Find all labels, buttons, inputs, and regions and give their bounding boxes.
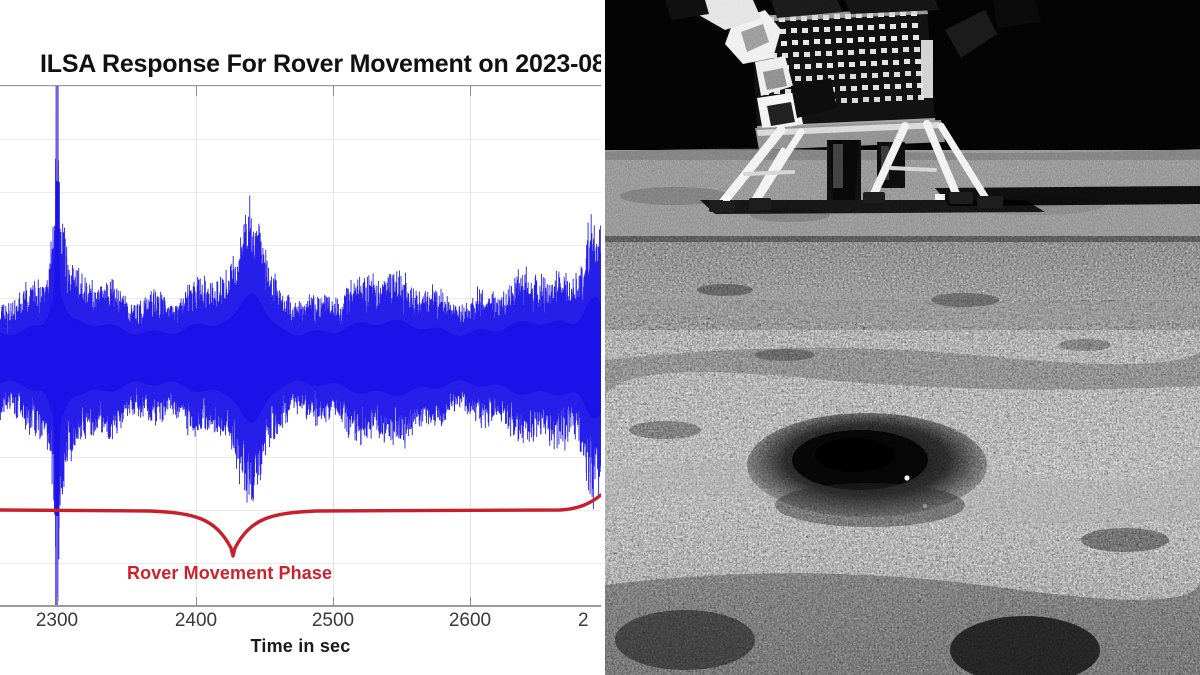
x-axis-title: Time in sec <box>0 636 601 657</box>
xtick-mark-bottom <box>333 597 334 606</box>
screenshot-root: ILSA Response For Rover Movement on 2023… <box>0 0 1200 675</box>
xtick-label: 2600 <box>430 610 510 632</box>
xtick-mark-bottom <box>470 597 471 606</box>
ilsa-chart-panel: ILSA Response For Rover Movement on 2023… <box>0 0 601 675</box>
xtick-mark-bottom <box>57 597 58 606</box>
xtick-mark-bottom <box>196 597 197 606</box>
plot-area <box>0 86 601 606</box>
xtick-label: 2400 <box>156 610 236 632</box>
plot-bottom-axis-line <box>0 605 601 607</box>
rover-phase-brace <box>0 86 601 606</box>
xtick-label: 2 <box>578 610 601 632</box>
lunar-photo-svg <box>605 0 1200 675</box>
photo-grain <box>605 0 1200 675</box>
brace-path <box>0 495 601 556</box>
xtick-label: 2300 <box>17 610 97 632</box>
xtick-label: 2500 <box>293 610 373 632</box>
lunar-surface-photo <box>605 0 1200 675</box>
rover-movement-phase-label: Rover Movement Phase <box>127 563 332 584</box>
chart-title: ILSA Response For Rover Movement on 2023… <box>40 48 601 80</box>
